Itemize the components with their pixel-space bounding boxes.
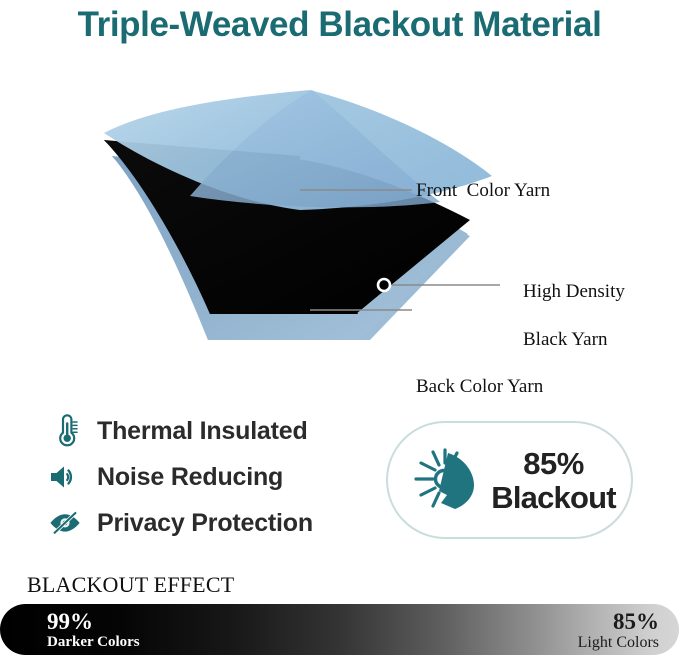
blackout-effect-title: BLACKOUT EFFECT — [27, 572, 234, 598]
blackout-badge-percent: 85% — [484, 448, 623, 479]
diagram-label-high-density-black-yarn: High Density Black Yarn — [504, 256, 625, 376]
fabric-layer-diagram: Front Color Yarn High Density Black Yarn… — [0, 78, 679, 353]
page-title: Triple-Weaved Blackout Material — [0, 0, 679, 47]
feature-label-noise-reducing: Noise Reducing — [97, 463, 283, 492]
blackout-effect-dark-label: Darker Colors — [47, 634, 140, 651]
blackout-effect-light-percent: 85% — [578, 609, 659, 634]
eye-slash-icon — [45, 503, 85, 543]
sun-blocked-icon — [406, 441, 484, 519]
blackout-badge-word: Blackout — [484, 482, 623, 513]
feature-item-privacy-protection: Privacy Protection — [45, 500, 365, 546]
blackout-effect-light-end: 85% Light Colors — [578, 609, 659, 651]
diagram-label-back-color-yarn: Back Color Yarn — [416, 375, 543, 399]
blackout-badge: 85% Blackout — [386, 421, 633, 539]
blackout-effect-dark-percent: 99% — [47, 609, 140, 634]
feature-label-privacy-protection: Privacy Protection — [97, 509, 313, 538]
feature-item-noise-reducing: Noise Reducing — [45, 454, 365, 500]
diagram-label-high-density-line2: Black Yarn — [523, 329, 607, 350]
diagram-label-high-density-line1: High Density — [523, 281, 625, 302]
thermometer-icon — [45, 411, 85, 451]
diagram-label-front-color-yarn: Front Color Yarn — [416, 179, 550, 203]
blackout-effect-gradient-bar: 99% Darker Colors 85% Light Colors — [0, 604, 679, 655]
feature-label-thermal-insulated: Thermal Insulated — [97, 417, 308, 446]
feature-item-thermal-insulated: Thermal Insulated — [45, 408, 365, 454]
blackout-effect-dark-end: 99% Darker Colors — [47, 609, 140, 651]
blackout-effect-light-label: Light Colors — [578, 634, 659, 651]
blackout-badge-text: 85% Blackout — [484, 448, 631, 513]
feature-list: Thermal Insulated Noise Reducing Privacy… — [45, 408, 365, 546]
speaker-icon — [45, 457, 85, 497]
